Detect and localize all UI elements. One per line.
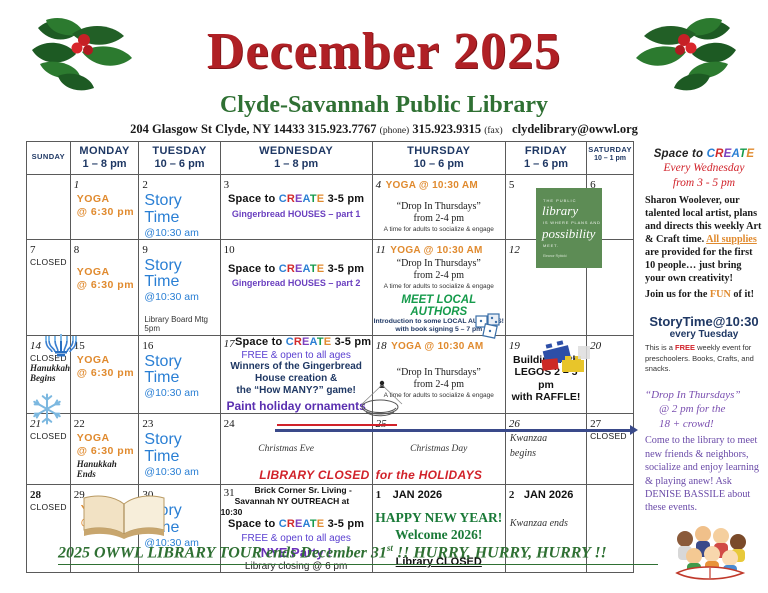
sidebar-create-body: Sharon Woolever, our talented local arti… xyxy=(645,194,763,285)
status-closed: CLOSED xyxy=(27,431,70,441)
event-story-time-hour: @10:30 am xyxy=(139,387,219,399)
column-header-wednesday: WEDNESDAY 1 – 8 pm xyxy=(220,142,372,175)
poster-line-4: possibility xyxy=(542,226,595,242)
note-hanukkah-ends: Hanukkah Ends xyxy=(71,459,139,480)
open-book-image xyxy=(78,490,170,540)
holiday-closure-arrow-head xyxy=(630,425,638,435)
event-yoga: YOGA @ 6:30 pm xyxy=(71,193,139,219)
sidebar-dropin-body: Come to the library to meet new friends … xyxy=(645,434,763,515)
event-story-time: Story Time xyxy=(139,354,219,388)
bottom-banner: 2025 OWWL LIBRARY TOUR ends December 31s… xyxy=(58,543,658,565)
banner-text-2: !! HURRY, HURRY, HURRY !! xyxy=(393,544,607,561)
greeting-welcome-2026: Welcome 2026! xyxy=(373,527,505,544)
event-yoga: YOGA @ 6:30 pm xyxy=(71,432,139,458)
children-reading-image xyxy=(663,525,755,585)
email-text: clydelibrary@owwl.org xyxy=(512,122,638,136)
day-number: 23 xyxy=(139,416,153,430)
info-sidebar: Space to CREATE Every Wednesday from 3 -… xyxy=(645,148,763,525)
event-drop-in-note: A time for adults to socialize & engage xyxy=(373,226,505,233)
fax-label: (fax) xyxy=(484,126,502,136)
event-story-time-hour: @10:30 am xyxy=(139,291,219,303)
day-cell-26[interactable]: 26 Kwanzaa begins xyxy=(505,414,586,485)
column-header-sunday: SUNDAY xyxy=(27,142,71,175)
poster-line-2: library xyxy=(542,203,578,219)
holiday-closure-arrow xyxy=(275,429,633,432)
sidebar-free-word: FREE xyxy=(675,343,695,352)
column-header-thursday: THURSDAY 10 – 6 pm xyxy=(372,142,505,175)
status-library-closed: LIBRARY CLOSED xyxy=(259,468,369,482)
event-drop-in-thursdays: “Drop In Thursdays” xyxy=(373,258,505,270)
event-space-to-create: Space to CREATE 3-5 pm xyxy=(221,263,372,277)
day-number: 2 xyxy=(506,487,515,501)
event-drop-in-time: from 2-4 pm xyxy=(373,213,505,225)
game-dice-icon xyxy=(475,313,507,339)
sidebar-storytime-body: This is a FREE weekly event for preschoo… xyxy=(645,343,763,375)
event-legos-line-3: with RAFFLE! xyxy=(506,391,586,404)
sidebar-storytime-heading: StoryTime@10:30 xyxy=(645,314,763,329)
event-space-to-create: Space to CREATE 3-5 pm xyxy=(221,193,372,207)
day-number: 8 xyxy=(71,242,80,256)
status-closed: CLOSED xyxy=(27,257,70,267)
event-yoga: YOGA @ 10:30 AM xyxy=(391,341,483,352)
day-number: 16 xyxy=(139,338,153,352)
event-free-note: FREE & open to all ages xyxy=(221,350,372,361)
column-header-saturday: SATURDAY 10 – 1 pm xyxy=(587,142,634,175)
day-cell-27[interactable]: 27 CLOSED xyxy=(587,414,634,485)
event-outreach-line-1: Brick Corner Sr. Living - xyxy=(221,485,372,496)
day-cell-2[interactable]: 2 Story Time @10:30 am xyxy=(139,175,220,240)
day-cell-4[interactable]: 4 YOGA @ 10:30 AM “Drop In Thursdays” fr… xyxy=(372,175,505,240)
lego-bricks-image xyxy=(540,340,594,376)
closed-underline xyxy=(277,424,397,426)
sidebar-create-every-2: from 3 - 5 pm xyxy=(645,176,763,190)
day-number: 24 xyxy=(221,416,235,430)
label-christmas-eve: Christmas Eve xyxy=(201,444,372,454)
day-number: 3 xyxy=(221,177,230,191)
address-text: 204 Glasgow St Clyde, NY 14433 315.923.7… xyxy=(130,122,376,136)
status-holidays: for the HOLIDAYS xyxy=(376,468,483,482)
day-cell-empty xyxy=(27,175,71,240)
status-closed: CLOSED xyxy=(27,502,70,512)
day-number: 10 xyxy=(221,242,235,256)
event-paint-ornaments: Paint holiday ornaments xyxy=(221,399,372,413)
event-story-time-hour: @10:30 am xyxy=(139,466,219,478)
column-header-friday: FRIDAY 1 – 6 pm xyxy=(505,142,586,175)
sidebar-all-supplies: All supplies xyxy=(706,234,757,245)
day-number: 19 xyxy=(506,338,520,352)
event-winners-line-1: Winners of the Gingerbread xyxy=(221,361,372,373)
day-cell-22[interactable]: 22 YOGA @ 6:30 pm Hanukkah Ends xyxy=(70,414,139,485)
phone-label: (phone) xyxy=(380,126,410,136)
menorah-icon xyxy=(44,332,78,358)
event-winners-line-2: House creation & xyxy=(221,373,372,385)
label-jan-2026: JAN 2026 xyxy=(393,489,443,501)
event-yoga: YOGA @ 6:30 pm xyxy=(71,266,139,292)
day-number: 5 xyxy=(506,177,515,191)
event-gingerbread: Gingerbread HOUSES – part 2 xyxy=(221,278,372,288)
banner-text-1: 2025 OWWL LIBRARY TOUR ends December 31 xyxy=(58,544,387,561)
day-number: 2 xyxy=(139,177,148,191)
sidebar-storytime-sub: every Tuesday xyxy=(645,329,763,340)
poster-line-5: MEET. xyxy=(543,243,559,248)
page-title: December 2025 xyxy=(0,22,768,81)
day-number: 12 xyxy=(506,242,520,256)
day-cell-9[interactable]: 9 Story Time @10:30 am Library Board Mtg… xyxy=(139,239,220,335)
day-cell-7[interactable]: 7 CLOSED xyxy=(27,239,71,335)
event-space-to-create: Space to CREATE 3-5 pm xyxy=(221,518,372,532)
event-story-time: Story Time xyxy=(139,193,219,227)
day-number: 1 xyxy=(71,177,80,191)
calendar-header-row: SUNDAY MONDAY 1 – 8 pm TUESDAY 10 – 6 pm… xyxy=(27,142,634,175)
sidebar-create-join: Join us for the FUN of it! xyxy=(645,288,763,301)
day-number: 18 xyxy=(373,338,387,352)
day-cell-1[interactable]: 1 YOGA @ 6:30 pm xyxy=(70,175,139,240)
snowflake-icon xyxy=(30,392,64,426)
note-hanukkah-begins: Hanukkah Begins xyxy=(27,363,70,384)
day-number: 4 xyxy=(373,177,382,191)
column-header-tuesday: TUESDAY 10 – 6 pm xyxy=(139,142,220,175)
column-header-monday: MONDAY 1 – 8 pm xyxy=(70,142,139,175)
day-number: 7 xyxy=(27,242,36,256)
poster-attribution: Eleanor Rybicki xyxy=(543,254,567,258)
day-number: 14 xyxy=(27,338,41,352)
event-drop-in-thursdays: “Drop In Thursdays” xyxy=(373,201,505,213)
day-cell-10[interactable]: 10 Space to CREATE 3-5 pm Gingerbread HO… xyxy=(220,239,372,335)
day-number: 9 xyxy=(139,242,148,256)
day-cell-15[interactable]: 15 YOGA @ 6:30 pm xyxy=(70,335,139,414)
event-gingerbread: Gingerbread HOUSES – part 1 xyxy=(221,209,372,219)
event-drop-in-note: A time for adults to socialize & engage xyxy=(373,283,505,290)
day-cell-17[interactable]: 17 Space to CREATE 3-5 pm FREE & open to… xyxy=(220,335,372,414)
status-closed: CLOSED xyxy=(587,431,633,441)
fax-number: 315.923.9315 xyxy=(412,122,481,136)
event-yoga: YOGA @ 6:30 pm xyxy=(71,354,139,380)
event-space-to-create: Space to CREATE 3-5 pm xyxy=(221,336,372,350)
sidebar-create-heading: Space to CREATE xyxy=(645,148,763,160)
day-number: 17 xyxy=(221,336,235,350)
sidebar-create-every-1: Every Wednesday xyxy=(645,161,763,175)
event-drop-in-time: from 2-4 pm xyxy=(373,270,505,282)
christmas-sleigh-image xyxy=(352,380,412,422)
library-poster-image: THE PUBLIC library IS WHERE PLANS AND po… xyxy=(536,188,602,268)
day-number: 31 xyxy=(221,485,235,499)
label-christmas-day: Christmas Day xyxy=(373,444,505,454)
day-cell-8[interactable]: 8 YOGA @ 6:30 pm xyxy=(70,239,139,335)
label-jan-2026: JAN 2026 xyxy=(524,489,574,501)
note-kwanzaa-ends: Kwanzaa ends xyxy=(506,517,586,532)
note-kwanzaa-begins: Kwanzaa begins xyxy=(506,432,586,461)
event-yoga: YOGA @ 10:30 AM xyxy=(390,245,482,256)
event-board-meeting: Library Board Mtg 5pm xyxy=(139,315,219,333)
poster-line-3: IS WHERE PLANS AND xyxy=(543,220,601,225)
day-number: 1 xyxy=(373,487,382,501)
sidebar-dropin-heading: “Drop In Thursdays” @ 2 pm for the 18 + … xyxy=(645,388,763,433)
day-cell-3[interactable]: 3 Space to CREATE 3-5 pm Gingerbread HOU… xyxy=(220,175,372,240)
contact-line: 204 Glasgow St Clyde, NY 14433 315.923.7… xyxy=(0,122,768,137)
event-story-time-hour: @10:30 am xyxy=(139,227,219,239)
event-yoga: YOGA @ 10:30 AM xyxy=(386,180,478,191)
event-winners-line-3: the “How MANY?” game! xyxy=(221,385,372,397)
day-number: 28 xyxy=(27,487,41,501)
event-drop-in-thursdays: “Drop In Thursdays” xyxy=(373,367,505,379)
day-number: 22 xyxy=(71,416,85,430)
calendar-page: December 2025 Clyde-Savannah Public Libr… xyxy=(0,0,768,593)
day-number: 11 xyxy=(373,242,386,256)
event-story-time: Story Time xyxy=(139,258,219,292)
day-cell-16[interactable]: 16 Story Time @10:30 am xyxy=(139,335,220,414)
event-outreach-line-2: Savannah NY OUTREACH at 10:30 xyxy=(221,496,372,517)
library-name: Clyde-Savannah Public Library xyxy=(0,92,768,119)
greeting-happy-new-year: HAPPY NEW YEAR! xyxy=(373,510,505,527)
page-header: December 2025 Clyde-Savannah Public Libr… xyxy=(0,0,768,138)
